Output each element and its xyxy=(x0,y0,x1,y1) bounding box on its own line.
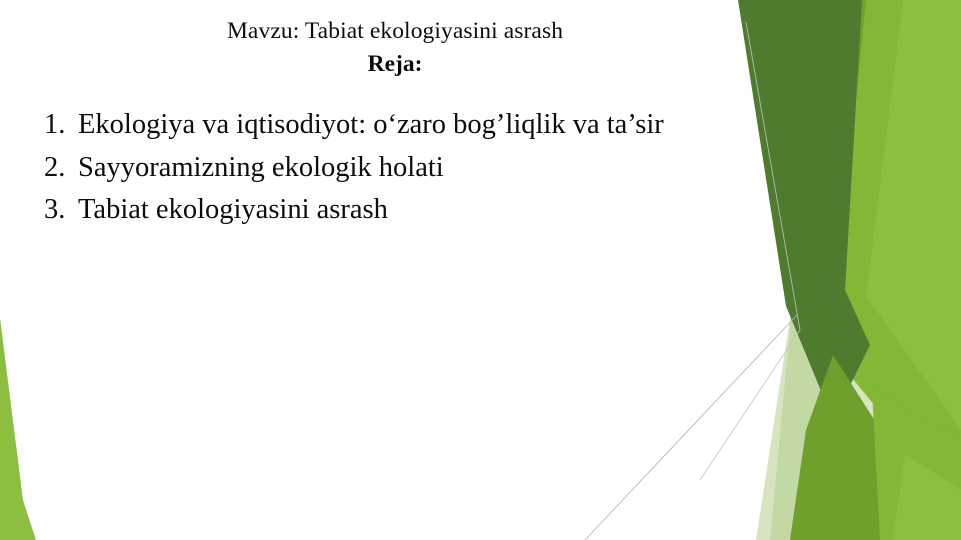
list-item-number: 2. xyxy=(44,147,78,190)
slide-content: Mavzu: Tabiat ekologiyasini asrash Reja:… xyxy=(0,0,961,540)
agenda-heading: Reja: xyxy=(0,50,790,78)
page-title: Mavzu: Tabiat ekologiyasini asrash xyxy=(0,17,790,45)
list-item-number: 3. xyxy=(44,189,78,232)
list-item-number: 1. xyxy=(44,104,78,147)
presentation-slide: Mavzu: Tabiat ekologiyasini asrash Reja:… xyxy=(0,0,961,540)
agenda-list: 1. Ekologiya va iqtisodiyot: o‘zaro bog’… xyxy=(44,104,759,232)
list-item: 2. Sayyoramizning ekologik holati xyxy=(44,147,759,190)
list-item-label: Tabiat ekologiyasini asrash xyxy=(78,189,759,232)
list-item-label: Ekologiya va iqtisodiyot: o‘zaro bog’liq… xyxy=(78,104,759,147)
list-item: 1. Ekologiya va iqtisodiyot: o‘zaro bog’… xyxy=(44,104,759,147)
list-item-label: Sayyoramizning ekologik holati xyxy=(78,147,759,190)
list-item: 3. Tabiat ekologiyasini asrash xyxy=(44,189,759,232)
